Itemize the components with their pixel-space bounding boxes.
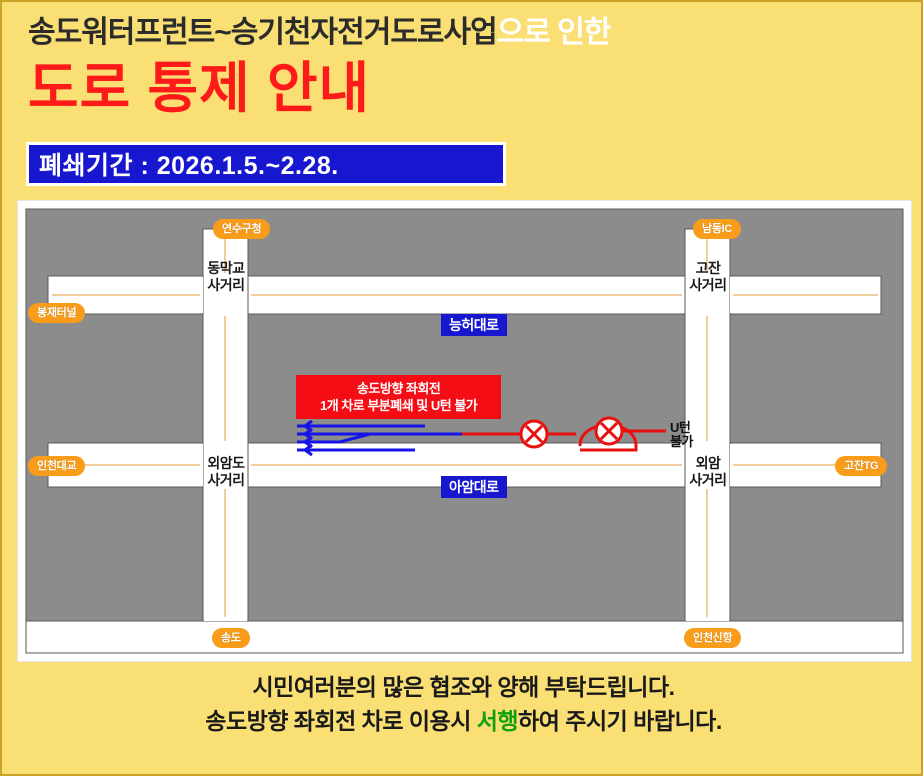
map-pill-namdong-ic: 남동IC <box>693 219 741 239</box>
intersection-name-line1: 동막교 <box>185 260 267 277</box>
intersection-name-line2: 사거리 <box>185 472 267 489</box>
closure-period-banner: 폐쇄기간 : 2026.1.5.~2.28. <box>26 142 506 186</box>
footer-line-2: 송도방향 좌회전 차로 이용시 서행하여 주시기 바랍니다. <box>2 704 923 738</box>
subtitle-suffix: 으로 인한 <box>497 16 611 49</box>
warning-line-1: 송도방향 좌회전 <box>320 380 477 397</box>
map-pill-bongjae-tunnel: 봉재터널 <box>28 303 85 323</box>
uturn-note-line2: 불가 <box>670 435 693 449</box>
map-pill-incheon-bridge: 인천대교 <box>28 456 85 476</box>
intersection-name-line1: 외암 <box>667 455 749 472</box>
intersection-name-line1: 고잔 <box>667 260 749 277</box>
map-intersection-woeamdo: 외암도 사거리 <box>185 455 267 489</box>
map-warning-box: 송도방향 좌회전 1개 차로 부분폐쇄 및 U턴 불가 <box>296 375 501 419</box>
poster-header: 송도워터프런트~승기천자전거도로사업으로 인한 도로 통제 안내 <box>2 2 923 137</box>
road-closure-notice-poster: { "poster": { "background_color": "#F9DF… <box>0 0 923 776</box>
intersection-name-line2: 사거리 <box>667 277 749 294</box>
map-pill-yeonsu-gu-office: 연수구청 <box>213 219 270 239</box>
footer-line2-before: 송도방향 좌회전 차로 이용시 <box>205 708 476 734</box>
warning-line-2: 1개 차로 부분폐쇄 및 U턴 불가 <box>320 397 477 414</box>
map-intersection-woeam: 외암 사거리 <box>667 455 749 489</box>
map-intersection-gojan: 고잔 사거리 <box>667 260 749 294</box>
map-road-plate-neungheodaero: 능허대로 <box>441 314 507 336</box>
footer-line-1: 시민여러분의 많은 협조와 양해 부탁드립니다. <box>2 670 923 704</box>
map-uturn-prohibited-note: U턴 불가 <box>670 421 693 449</box>
closure-period-text: 폐쇄기간 : 2026.1.5.~2.28. <box>39 146 339 182</box>
map-pill-incheon-new-port: 인천신항 <box>684 628 741 648</box>
subtitle-project-name: 송도워터프런트~승기천자전거도로사업 <box>28 16 497 49</box>
subtitle-line: 송도워터프런트~승기천자전거도로사업으로 인한 <box>28 14 888 52</box>
map-pill-gojan-tg: 고잔TG <box>835 456 887 476</box>
poster-footer: 시민여러분의 많은 협조와 양해 부탁드립니다. 송도방향 좌회전 차로 이용시… <box>2 670 923 738</box>
uturn-note-line1: U턴 <box>670 421 693 435</box>
page-title: 도로 통제 안내 <box>28 57 370 119</box>
intersection-name-line1: 외암도 <box>185 455 267 472</box>
footer-line2-highlight: 서행 <box>477 708 518 734</box>
footer-line2-after: 하여 주시기 바랍니다. <box>518 708 722 734</box>
map-intersection-dongmakgyo: 동막교 사거리 <box>185 260 267 294</box>
map-canvas: 연수구청 남동IC 봉재터널 인천대교 고잔TG 송도 인천신항 동막교 사거리… <box>20 203 909 659</box>
intersection-name-line2: 사거리 <box>667 472 749 489</box>
intersection-name-line2: 사거리 <box>185 277 267 294</box>
map-roads-svg <box>20 203 909 659</box>
map-pill-songdo: 송도 <box>212 628 250 648</box>
road-closure-map: 연수구청 남동IC 봉재터널 인천대교 고잔TG 송도 인천신항 동막교 사거리… <box>18 201 911 661</box>
map-road-plate-aamdaero: 아암대로 <box>441 476 507 498</box>
